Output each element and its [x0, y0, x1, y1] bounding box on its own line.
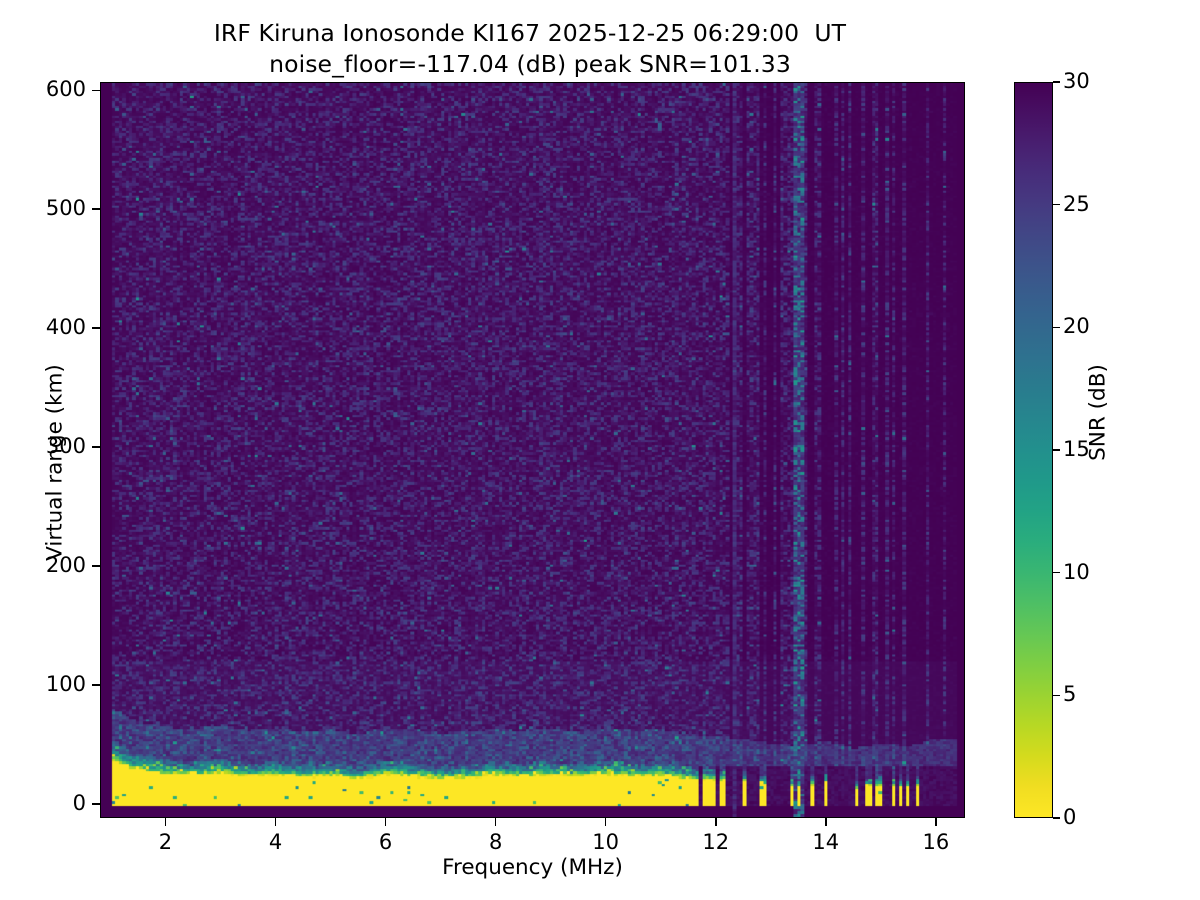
y-tick-label: 200: [46, 555, 86, 576]
x-tick-label: 16: [922, 832, 949, 853]
chart-title-line-2: noise_floor=-117.04 (dB) peak SNR=101.33: [0, 49, 1060, 80]
x-tick-label: 14: [812, 832, 839, 853]
x-tick-mark: [935, 818, 937, 826]
colorbar-tick-mark: [1053, 204, 1060, 206]
x-tick-mark: [275, 818, 277, 826]
colorbar-gradient: [1015, 83, 1052, 817]
colorbar-tick-label: 30: [1063, 71, 1090, 92]
ionogram-figure: IRF Kiruna Ionosonde KI167 2025-12-25 06…: [0, 0, 1200, 900]
x-tick-label: 6: [379, 832, 392, 853]
y-tick-mark: [92, 208, 100, 210]
x-tick-mark: [825, 818, 827, 826]
colorbar-tick-label: 20: [1063, 316, 1090, 337]
colorbar-tick-label: 5: [1063, 684, 1076, 705]
y-tick-label: 600: [46, 79, 86, 100]
x-tick-label: 8: [489, 832, 502, 853]
y-tick-label: 300: [46, 436, 86, 457]
y-tick-label: 100: [46, 674, 86, 695]
x-tick-mark: [605, 818, 607, 826]
y-tick-mark: [92, 684, 100, 686]
y-tick-mark: [92, 90, 100, 92]
colorbar-tick-label: 25: [1063, 194, 1090, 215]
x-tick-label: 2: [159, 832, 172, 853]
y-tick-label: 500: [46, 198, 86, 219]
ionogram-plot-area: [100, 82, 965, 818]
x-tick-mark: [495, 818, 497, 826]
colorbar-tick-label: 0: [1063, 807, 1076, 828]
ionogram-heatmap: [101, 83, 964, 817]
colorbar-tick-mark: [1053, 695, 1060, 697]
colorbar-tick-mark: [1053, 327, 1060, 329]
colorbar-tick-label: 15: [1063, 439, 1090, 460]
y-tick-mark: [92, 446, 100, 448]
x-tick-mark: [165, 818, 167, 826]
colorbar-tick-mark: [1053, 817, 1060, 819]
chart-title-line-1: IRF Kiruna Ionosonde KI167 2025-12-25 06…: [0, 18, 1060, 49]
colorbar-tick-label: 10: [1063, 562, 1090, 583]
y-tick-label: 400: [46, 317, 86, 338]
x-tick-mark: [715, 818, 717, 826]
x-tick-label: 10: [592, 832, 619, 853]
colorbar-tick-mark: [1053, 81, 1060, 83]
chart-title: IRF Kiruna Ionosonde KI167 2025-12-25 06…: [0, 18, 1060, 79]
x-tick-label: 4: [269, 832, 282, 853]
colorbar-tick-mark: [1053, 572, 1060, 574]
x-tick-mark: [385, 818, 387, 826]
colorbar: [1014, 82, 1053, 818]
y-tick-mark: [92, 565, 100, 567]
colorbar-tick-mark: [1053, 449, 1060, 451]
colorbar-label: SNR (dB): [1086, 263, 1111, 563]
y-tick-mark: [92, 803, 100, 805]
y-tick-mark: [92, 327, 100, 329]
y-tick-label: 0: [73, 793, 86, 814]
x-axis-label: Frequency (MHz): [100, 855, 965, 880]
x-tick-label: 12: [702, 832, 729, 853]
